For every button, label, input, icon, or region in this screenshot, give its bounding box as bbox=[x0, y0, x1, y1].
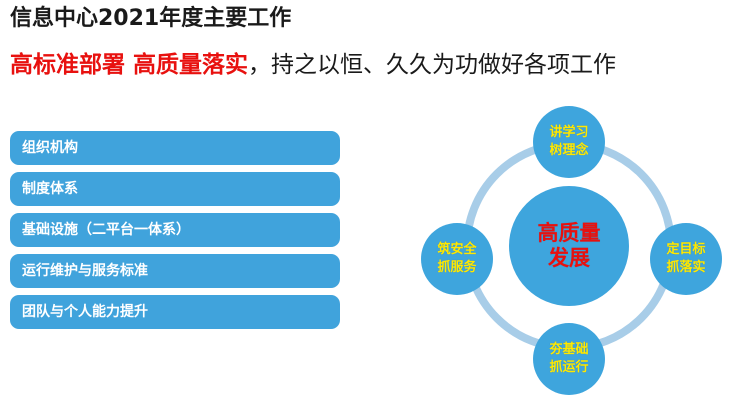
cycle-node-left-line-2: 抓服务 bbox=[437, 259, 476, 277]
task-bar[interactable]: 组织机构 bbox=[10, 131, 340, 165]
cycle-node-right[interactable]: 定目标 抓落实 bbox=[650, 223, 722, 295]
cycle-node-top-line-1: 讲学习 bbox=[549, 124, 588, 142]
task-bar[interactable]: 制度体系 bbox=[10, 172, 340, 206]
subtitle-rest-text: ，持之以恒、久久为功做好各项工作 bbox=[248, 52, 616, 78]
task-bar-label: 团队与个人能力提升 bbox=[22, 295, 148, 329]
cycle-center-line-1: 高质量 bbox=[538, 221, 601, 246]
task-bar-label: 组织机构 bbox=[22, 131, 78, 165]
cycle-node-top-line-2: 树理念 bbox=[549, 142, 588, 160]
cycle-center-line-2: 发展 bbox=[548, 246, 590, 271]
page-title: 信息中心2021年度主要工作 bbox=[10, 4, 291, 34]
cycle-node-bottom-line-1: 夯基础 bbox=[549, 341, 588, 359]
task-bar[interactable]: 运行维护与服务标准 bbox=[10, 254, 340, 288]
task-list: 组织机构 制度体系 基础设施（二平台一体系） 运行维护与服务标准 团队与个人能力… bbox=[10, 131, 340, 336]
subtitle-highlight-text: 高标准部署 高质量落实 bbox=[10, 52, 248, 78]
task-bar-label: 基础设施（二平台一体系） bbox=[22, 213, 190, 247]
task-bar-label: 运行维护与服务标准 bbox=[22, 254, 148, 288]
cycle-node-right-line-1: 定目标 bbox=[666, 241, 705, 259]
cycle-node-left[interactable]: 筑安全 抓服务 bbox=[421, 223, 493, 295]
cycle-node-top[interactable]: 讲学习 树理念 bbox=[533, 106, 605, 178]
task-bar[interactable]: 团队与个人能力提升 bbox=[10, 295, 340, 329]
cycle-node-bottom-line-2: 抓运行 bbox=[549, 359, 588, 377]
cycle-node-left-line-1: 筑安全 bbox=[437, 241, 476, 259]
cycle-diagram: 高质量 发展 讲学习 树理念 定目标 抓落实 夯基础 抓运行 筑安全 抓服务 bbox=[418, 98, 723, 398]
task-bar[interactable]: 基础设施（二平台一体系） bbox=[10, 213, 340, 247]
task-bar-label: 制度体系 bbox=[22, 172, 78, 206]
cycle-center-node[interactable]: 高质量 发展 bbox=[509, 186, 629, 306]
cycle-node-bottom[interactable]: 夯基础 抓运行 bbox=[533, 323, 605, 395]
page-subtitle: 高标准部署 高质量落实，持之以恒、久久为功做好各项工作 bbox=[10, 48, 616, 82]
cycle-node-right-line-2: 抓落实 bbox=[666, 259, 705, 277]
slide-canvas: 信息中心2021年度主要工作 高标准部署 高质量落实，持之以恒、久久为功做好各项… bbox=[0, 0, 735, 409]
